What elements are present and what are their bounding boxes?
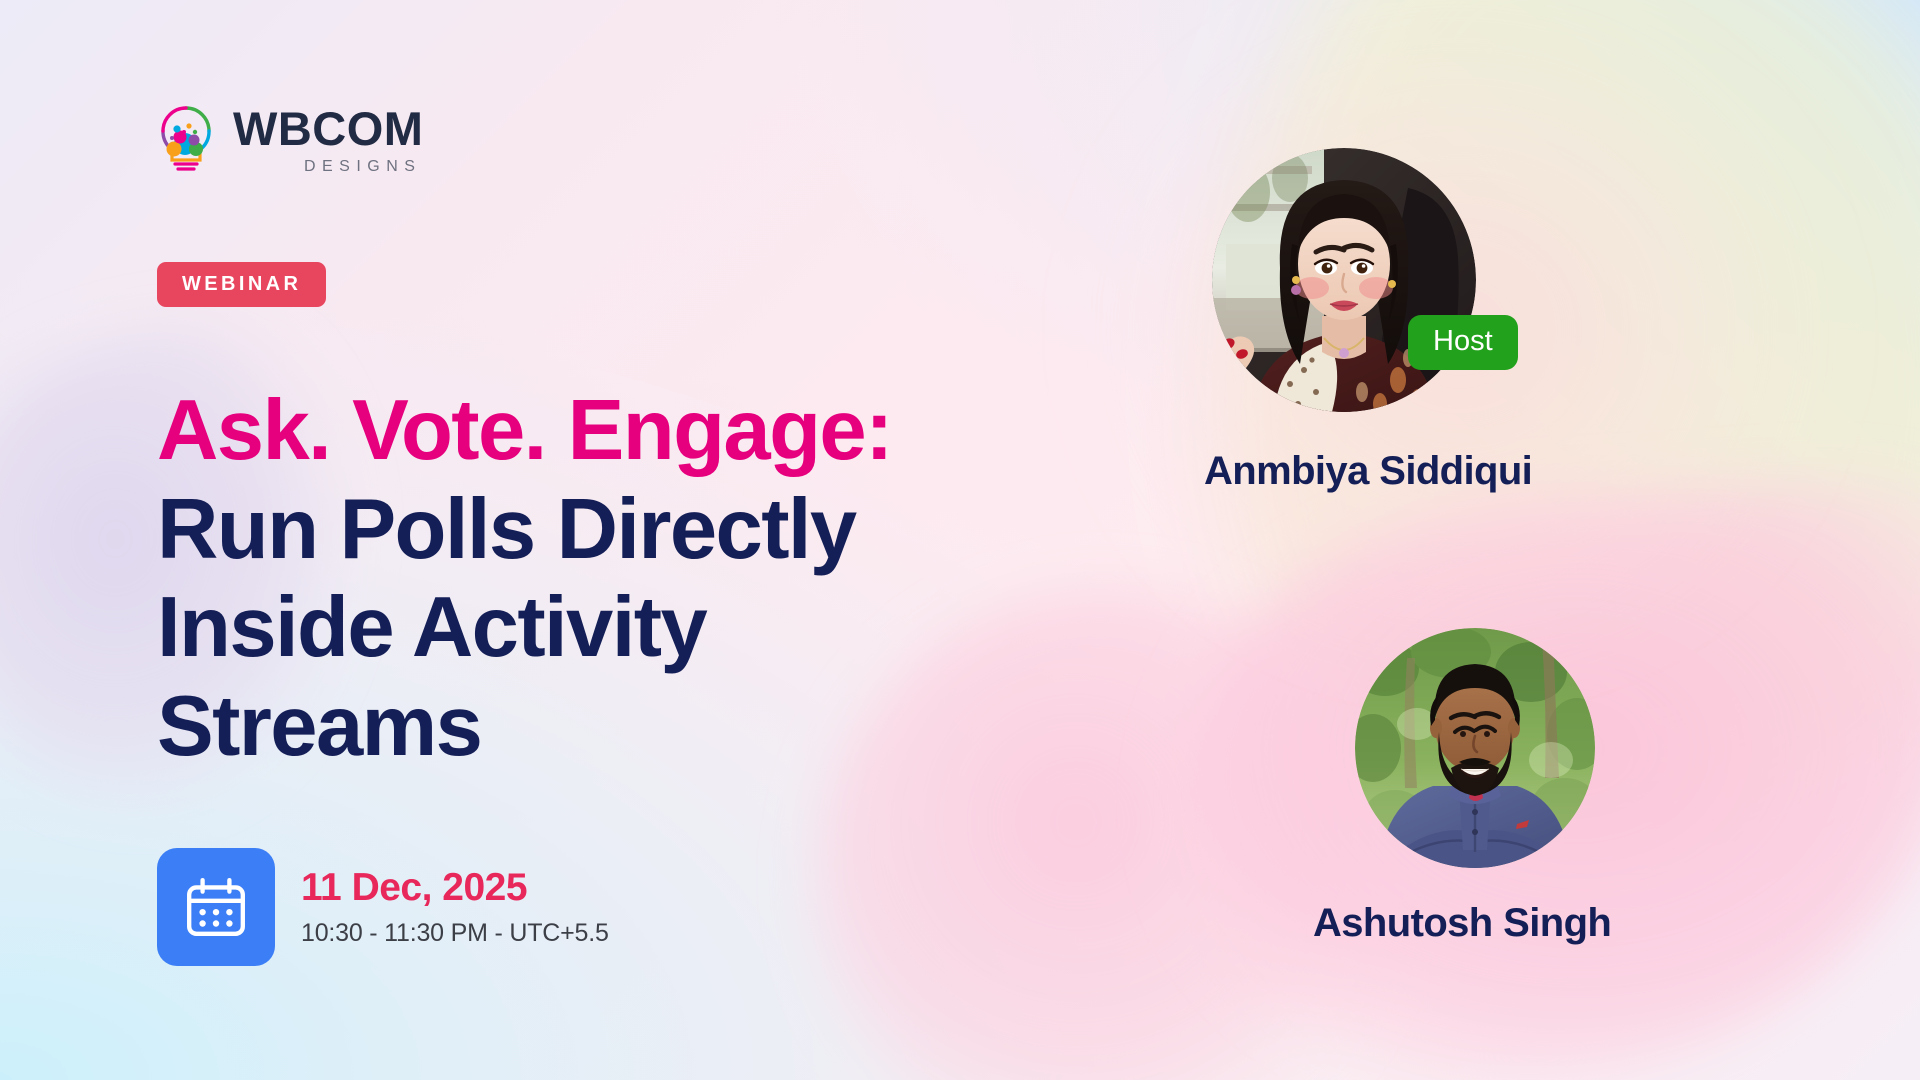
avatar-wrap-1: Host — [1212, 148, 1532, 412]
event-date: 11 Dec, 2025 — [301, 866, 609, 911]
avatar-wrap-2 — [1355, 628, 1611, 868]
speaker-card-1: Host Anmbiya Siddiqui — [1212, 148, 1532, 491]
logo-tagline: DESIGNS — [233, 159, 421, 175]
avatar-anmbiya-siddiqui — [1212, 148, 1476, 412]
lightbulb-logo-icon — [155, 104, 217, 176]
speaker-name-2: Ashutosh Singh — [1313, 903, 1611, 943]
event-time: 10:30 - 11:30 PM - UTC+5.5 — [301, 919, 609, 948]
webinar-banner: WBCOM DESIGNS WEBINAR Ask. Vote. Engage:… — [0, 0, 1920, 1080]
headline-line-4: Streams — [157, 678, 1187, 777]
headline-line-1: Ask. Vote. Engage: — [157, 382, 1187, 481]
calendar-icon-tile — [157, 848, 275, 966]
event-datetime: 11 Dec, 2025 10:30 - 11:30 PM - UTC+5.5 — [157, 848, 609, 966]
speaker-name-1: Anmbiya Siddiqui — [1204, 451, 1532, 491]
calendar-icon — [183, 874, 249, 940]
status-badge-host: Host — [1408, 315, 1518, 370]
webinar-badge: WEBINAR — [157, 262, 326, 307]
headline-line-3: Inside Activity — [157, 579, 1187, 678]
brand-logo[interactable]: WBCOM DESIGNS — [155, 104, 423, 176]
page-title: Ask. Vote. Engage: Run Polls Directly In… — [157, 382, 1187, 776]
speaker-card-2: Ashutosh Singh — [1355, 628, 1611, 943]
headline-line-2: Run Polls Directly — [157, 481, 1187, 580]
avatar-ashutosh-singh — [1355, 628, 1595, 868]
logo-wordmark: WBCOM — [233, 105, 423, 152]
